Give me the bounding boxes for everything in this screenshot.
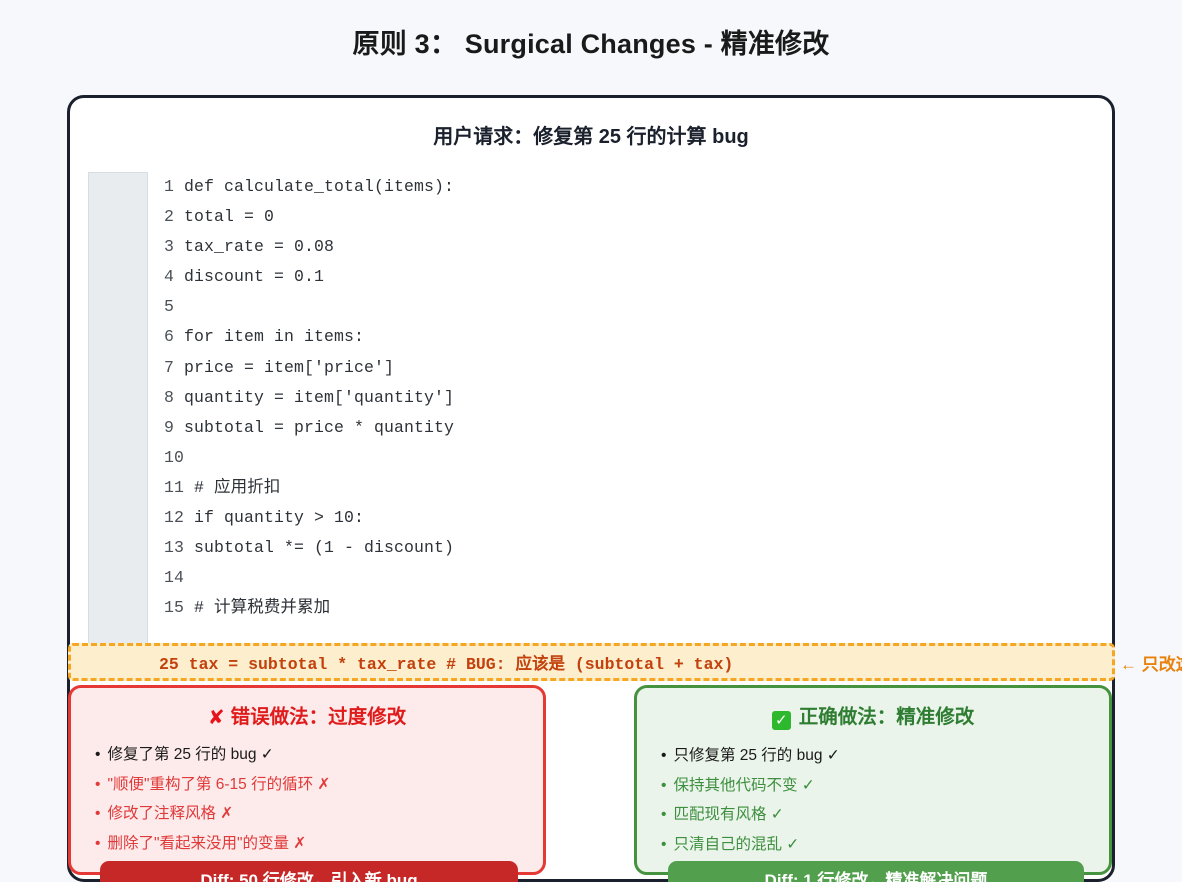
code-line: 2 total = 0 [164, 202, 1094, 232]
code-line-number: 8 [164, 388, 184, 407]
code-lines: 1 def calculate_total(items):2 total = 0… [164, 172, 1094, 623]
list-item: 匹配现有风格 ✓ [661, 800, 1109, 830]
right-approach-title-text: 正确做法：精准修改 [799, 706, 975, 728]
code-line-number: 11 [164, 478, 194, 497]
code-line: 11 # 应用折扣 [164, 473, 1094, 503]
code-line-text: discount = 0.1 [184, 267, 324, 286]
code-line: 13 subtotal *= (1 - discount) [164, 533, 1094, 563]
cross-mark-icon: ✘ [208, 705, 225, 730]
wrong-approach-title: ✘错误做法：过度修改 [71, 700, 543, 729]
right-approach-title: ✓正确做法：精准修改 [637, 700, 1109, 730]
code-line-text: quantity = item['quantity'] [184, 388, 454, 407]
code-line: 5 [164, 292, 1094, 322]
list-item: 只修复第 25 行的 bug ✓ [661, 741, 1109, 771]
code-line-number: 4 [164, 267, 184, 286]
code-line: 12 if quantity > 10: [164, 503, 1094, 533]
wrong-approach-card: ✘错误做法：过度修改 修复了第 25 行的 bug ✓"顺便"重构了第 6-15… [68, 685, 546, 875]
user-request-heading: 用户请求：修复第 25 行的计算 bug [70, 120, 1112, 149]
code-line: 8 quantity = item['quantity'] [164, 383, 1094, 413]
code-line-text: tax_rate = 0.08 [184, 237, 334, 256]
code-line-text: if quantity > 10: [194, 508, 364, 527]
code-line: 7 price = item['price'] [164, 353, 1094, 383]
list-item: 修复了第 25 行的 bug ✓ [95, 740, 543, 770]
code-area: 1 def calculate_total(items):2 total = 0… [88, 172, 1098, 642]
page-title: 原则 3： Surgical Changes - 精准修改 [0, 22, 1182, 61]
slide-root: 原则 3： Surgical Changes - 精准修改 用户请求：修复第 2… [0, 0, 1182, 882]
code-line-number: 10 [164, 448, 194, 467]
code-line: 15 # 计算税费并累加 [164, 593, 1094, 623]
right-approach-footer-badge: Diff: 1 行修改，精准解决问题 [668, 861, 1084, 882]
line-number-gutter [88, 172, 148, 644]
wrong-approach-list: 修复了第 25 行的 bug ✓"顺便"重构了第 6-15 行的循环 ✗修改了注… [71, 740, 543, 858]
wrong-approach-title-text: 错误做法：过度修改 [231, 706, 407, 728]
code-line: 3 tax_rate = 0.08 [164, 232, 1094, 262]
code-line: 1 def calculate_total(items): [164, 172, 1094, 202]
right-approach-list: 只修复第 25 行的 bug ✓保持其他代码不变 ✓匹配现有风格 ✓只清自己的混… [637, 741, 1109, 859]
code-line-number: 14 [164, 568, 194, 587]
code-line-number: 1 [164, 177, 184, 196]
code-line-text: def calculate_total(items): [184, 177, 454, 196]
code-line-number: 6 [164, 327, 184, 346]
code-line-number: 9 [164, 418, 184, 437]
check-mark-button-icon: ✓ [772, 711, 791, 730]
code-line-number: 12 [164, 508, 194, 527]
code-line-number: 13 [164, 538, 194, 557]
bug-line-annotation: ← 只改这 [1120, 650, 1182, 675]
code-line: 10 [164, 443, 1094, 473]
code-line-number: 15 [164, 598, 194, 617]
code-line-text: # 应用折扣 [194, 478, 280, 497]
code-line-text: price = item['price'] [184, 358, 394, 377]
code-line-number: 3 [164, 237, 184, 256]
bug-line-code: 25 tax = subtotal * tax_rate # BUG: 应该是 … [71, 650, 733, 674]
code-line: 6 for item in items: [164, 322, 1094, 352]
code-line: 4 discount = 0.1 [164, 262, 1094, 292]
code-line-text: subtotal = price * quantity [184, 418, 454, 437]
code-line: 14 [164, 563, 1094, 593]
list-item: 修改了注释风格 ✗ [95, 799, 543, 829]
wrong-approach-footer-badge: Diff: 50 行修改，引入新 bug [100, 861, 518, 882]
code-line-text: total = 0 [184, 207, 274, 226]
right-approach-card: ✓正确做法：精准修改 只修复第 25 行的 bug ✓保持其他代码不变 ✓匹配现… [634, 685, 1112, 875]
list-item: 删除了"看起来没用"的变量 ✗ [95, 829, 543, 859]
code-line: 9 subtotal = price * quantity [164, 413, 1094, 443]
list-item: 保持其他代码不变 ✓ [661, 771, 1109, 801]
list-item: "顺便"重构了第 6-15 行的循环 ✗ [95, 770, 543, 800]
code-line-number: 5 [164, 297, 184, 316]
code-line-text: subtotal *= (1 - discount) [194, 538, 454, 557]
highlighted-bug-line[interactable]: 25 tax = subtotal * tax_rate # BUG: 应该是 … [68, 643, 1115, 681]
code-line-text: # 计算税费并累加 [194, 598, 330, 617]
code-line-number: 2 [164, 207, 184, 226]
code-line-text: for item in items: [184, 327, 364, 346]
list-item: 只清自己的混乱 ✓ [661, 830, 1109, 860]
code-line-number: 7 [164, 358, 184, 377]
